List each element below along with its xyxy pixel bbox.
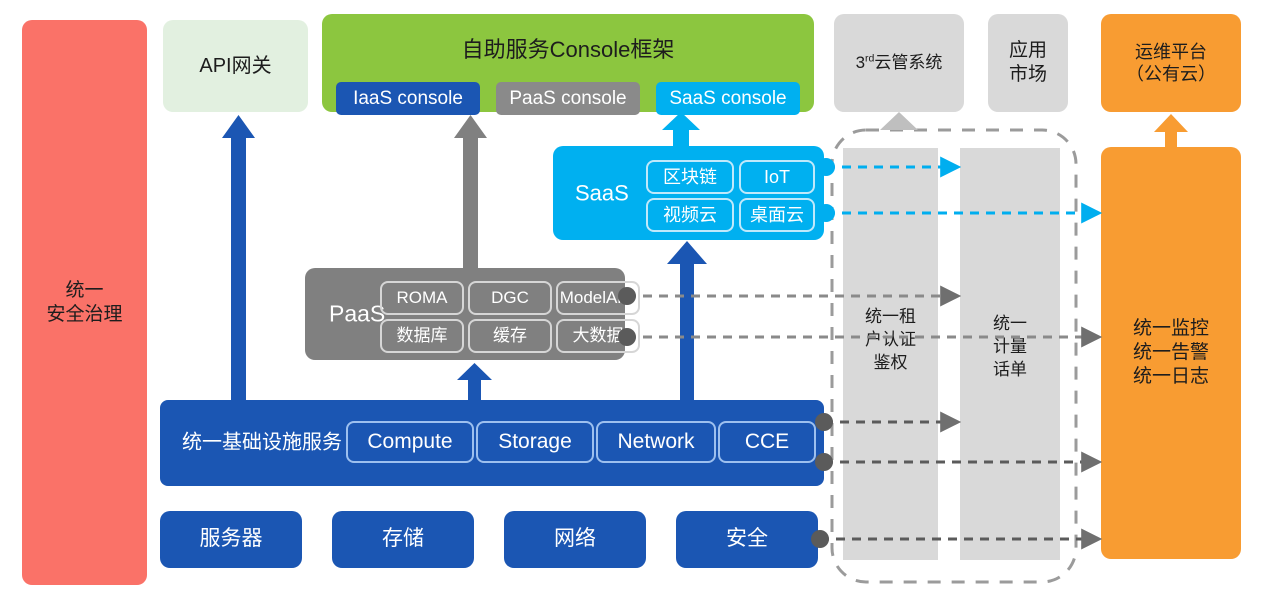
ops-platform-box: 运维平台 （公有云） — [1101, 14, 1241, 112]
iaas-console-chip[interactable]: IaaS console — [336, 82, 480, 115]
metering-line3: 话单 — [960, 359, 1060, 382]
shared-service-column-metering: 统一 计量 话单 — [960, 148, 1060, 560]
metering-line2: 计量 — [960, 336, 1060, 359]
saas-service-desktop-cloud[interactable]: 桌面云 — [739, 198, 815, 232]
security-label-line2: 安全治理 — [46, 303, 122, 327]
saas-service-video-cloud[interactable]: 视频云 — [646, 198, 734, 232]
ops-platform-line2: （公有云） — [1126, 63, 1216, 86]
arrow-infra-to-saas — [667, 241, 707, 400]
security-label-line1: 统一 — [65, 279, 103, 303]
unified-infrastructure-box: 统一基础设施服务 Compute Storage Network CCE — [160, 400, 824, 486]
arrow-shared-to-third-party — [880, 112, 918, 130]
resource-box-server[interactable]: 服务器 — [160, 511, 302, 568]
infra-service-cce[interactable]: CCE — [718, 421, 816, 463]
paas-chip-label: ModelArts — [560, 287, 637, 308]
paas-service-roma[interactable]: ROMA — [380, 281, 464, 315]
shared-service-metering-label: 统一 计量 话单 — [960, 313, 1060, 382]
auth-line2: 户认证 — [843, 329, 938, 352]
third-party-label: 3rd云管系统 — [856, 52, 943, 73]
app-market-line2: 市场 — [1009, 63, 1047, 87]
auth-line1: 统一租 — [843, 306, 938, 329]
api-gateway-box: API网关 — [163, 20, 308, 112]
infra-service-compute[interactable]: Compute — [346, 421, 474, 463]
paas-console-label: PaaS console — [509, 87, 626, 111]
ops-side-line2: 统一告警 — [1133, 341, 1209, 365]
arrow-paas-to-console — [454, 115, 487, 268]
third-party-rest: 云管系统 — [874, 53, 942, 72]
api-gateway-label: API网关 — [199, 54, 271, 79]
app-market-line1: 应用 — [1009, 39, 1047, 63]
saas-chip-label: 区块链 — [663, 166, 717, 189]
unified-security-governance-box: 统一 安全治理 — [22, 20, 147, 585]
saas-chip-label: 桌面云 — [750, 204, 804, 227]
third-party-cloud-management-box: 3rd云管系统 — [834, 14, 964, 112]
paas-layer-label: PaaS — [329, 300, 385, 329]
paas-service-database[interactable]: 数据库 — [380, 319, 464, 353]
paas-chip-label: 缓存 — [493, 325, 527, 346]
infra-chip-label: Storage — [498, 429, 572, 455]
diagram-canvas: 统一 安全治理 API网关 自助服务Console框架 IaaS console… — [0, 0, 1265, 605]
paas-chip-label: ROMA — [397, 287, 448, 308]
infra-service-network[interactable]: Network — [596, 421, 716, 463]
resource-box-storage[interactable]: 存储 — [332, 511, 474, 568]
saas-chip-label: IoT — [764, 166, 790, 189]
ops-side-line3: 统一日志 — [1133, 365, 1209, 389]
infra-service-storage[interactable]: Storage — [476, 421, 594, 463]
infra-chip-label: Compute — [367, 429, 452, 455]
paas-console-chip[interactable]: PaaS console — [496, 82, 640, 115]
arrow-ops-side-to-ops-platform — [1154, 114, 1188, 147]
infra-chip-label: CCE — [745, 429, 789, 455]
arrow-infra-to-paas — [457, 363, 492, 400]
arrow-infra-to-api-gateway — [222, 115, 255, 400]
ops-platform-line1: 运维平台 — [1135, 41, 1207, 64]
resource-label: 服务器 — [200, 526, 263, 552]
ops-monitoring-panel: 统一监控 统一告警 统一日志 — [1101, 147, 1241, 559]
ops-side-line1: 统一监控 — [1133, 317, 1209, 341]
console-frame-title: 自助服务Console框架 — [322, 36, 814, 64]
resource-box-security[interactable]: 安全 — [676, 511, 818, 568]
saas-layer-box: SaaS 区块链 IoT 视频云 桌面云 — [553, 146, 824, 240]
saas-console-chip[interactable]: SaaS console — [656, 82, 800, 115]
paas-layer-box: PaaS ROMA DGC ModelArts 数据库 缓存 大数据 — [305, 268, 625, 360]
self-service-console-frame: 自助服务Console框架 IaaS console PaaS console … — [322, 14, 814, 112]
metering-line1: 统一 — [960, 313, 1060, 336]
infra-chip-label: Network — [617, 429, 694, 455]
unified-infrastructure-label: 统一基础设施服务 — [182, 431, 342, 456]
paas-service-bigdata[interactable]: 大数据 — [556, 319, 640, 353]
shared-service-column-auth: 统一租 户认证 鉴权 — [843, 148, 938, 560]
paas-service-cache[interactable]: 缓存 — [468, 319, 552, 353]
paas-chip-label: 数据库 — [397, 325, 448, 346]
saas-service-blockchain[interactable]: 区块链 — [646, 160, 734, 194]
resource-label: 网络 — [554, 526, 596, 552]
saas-console-label: SaaS console — [669, 87, 786, 111]
iaas-console-label: IaaS console — [353, 87, 463, 111]
paas-service-modelarts[interactable]: ModelArts — [556, 281, 640, 315]
saas-chip-label: 视频云 — [663, 204, 717, 227]
app-market-box: 应用 市场 — [988, 14, 1068, 112]
paas-service-dgc[interactable]: DGC — [468, 281, 552, 315]
third-party-prefix: 3 — [856, 53, 865, 72]
resource-label: 存储 — [382, 526, 424, 552]
resource-box-network[interactable]: 网络 — [504, 511, 646, 568]
shared-service-auth-label: 统一租 户认证 鉴权 — [843, 306, 938, 375]
paas-chip-label: DGC — [491, 287, 529, 308]
auth-line3: 鉴权 — [843, 352, 938, 375]
saas-layer-label: SaaS — [575, 179, 629, 207]
arrow-saas-to-console — [662, 112, 700, 146]
resource-label: 安全 — [726, 526, 768, 552]
saas-service-iot[interactable]: IoT — [739, 160, 815, 194]
paas-chip-label: 大数据 — [573, 325, 624, 346]
